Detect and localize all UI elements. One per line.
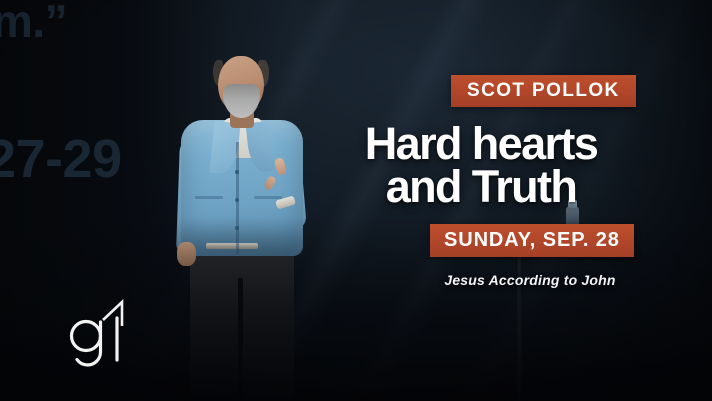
service-date-badge: SUNDAY, SEP. 28 — [430, 224, 634, 257]
speaker-name-badge: SCOT POLLOK — [451, 75, 636, 107]
gh-monogram-icon — [60, 296, 140, 368]
church-logo — [60, 296, 140, 368]
sermon-title-line-1: Hard hearts — [316, 122, 646, 165]
sermon-title-line-2: and Truth — [316, 165, 646, 208]
sermon-title: Hard hearts and Truth — [316, 122, 646, 208]
series-subtitle: Jesus According to John — [381, 272, 679, 288]
sermon-title-slide: m.” 27-29 SCOT P — [0, 0, 712, 401]
